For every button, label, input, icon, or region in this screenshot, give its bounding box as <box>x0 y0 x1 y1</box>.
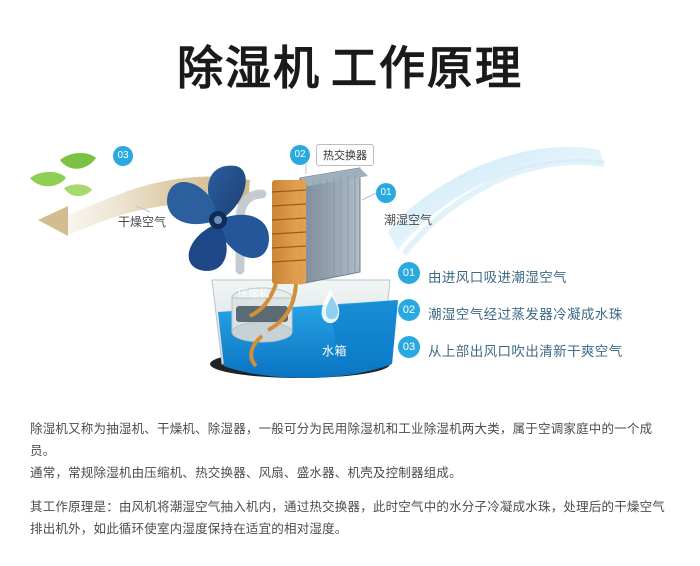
paragraph-1-line-1: 除湿机又称为抽湿机、干燥机、除湿器，一般可分为民用除湿机和工业除湿机两大类，属于… <box>30 422 652 458</box>
paragraph-2-line-2: 排出机外，如此循环使室内湿度保持在适宜的相对湿度。 <box>30 522 348 536</box>
step-badge-01: 01 <box>398 262 420 284</box>
humid-air-label: 潮湿空气 <box>384 211 432 228</box>
compressor-label: 压缩机 <box>238 285 270 300</box>
page-root: 除湿机工作原理 <box>0 0 700 566</box>
dehumidifier-diagram: 03 02 01 热交换器 干燥空气 潮湿空气 压缩机 水箱 <box>0 120 700 410</box>
step-badge-03: 03 <box>398 336 420 358</box>
title-sub: 工作原理 <box>331 42 523 94</box>
badge-03-diagram: 03 <box>113 146 133 166</box>
title-main: 除湿机 <box>177 42 321 94</box>
title-text: 除湿机工作原理 <box>177 32 523 98</box>
evaporator-block <box>300 168 368 284</box>
heat-exchanger-tag: 热交换器 <box>316 144 374 166</box>
badge-01-diagram: 01 <box>376 183 396 203</box>
paragraph-2: 其工作原理是：由风机将潮湿空气抽入机内，通过热交换器，此时空气中的水分子冷凝成水… <box>30 496 675 540</box>
paragraph-2-line-1: 其工作原理是：由风机将潮湿空气抽入机内，通过热交换器，此时空气中的水分子冷凝成水… <box>30 500 665 514</box>
step-text-01: 由进风口吸进潮湿空气 <box>428 266 567 286</box>
dry-air-label: 干燥空气 <box>118 213 166 230</box>
water-tank-side <box>330 300 398 370</box>
water-tank-label: 水箱 <box>322 342 347 359</box>
step-text-03: 从上部出风口吹出清新干爽空气 <box>428 340 623 360</box>
page-title: 除湿机工作原理 <box>0 32 700 98</box>
paragraph-1: 除湿机又称为抽湿机、干燥机、除湿器，一般可分为民用除湿机和工业除湿机两大类，属于… <box>30 418 675 484</box>
step-badge-02: 02 <box>398 299 420 321</box>
step-text-02: 潮湿空气经过蒸发器冷凝成水珠 <box>428 303 623 323</box>
badge-02-diagram: 02 <box>290 145 310 165</box>
paragraph-1-line-2: 通常，常规除湿机由压缩机、热交换器、风扇、盛水器、机壳及控制器组成。 <box>30 466 462 480</box>
dry-airflow-arrow <box>38 206 68 236</box>
description-block: 除湿机又称为抽湿机、干燥机、除湿器，一般可分为民用除湿机和工业除湿机两大类，属于… <box>30 418 675 552</box>
leaf-icon-group <box>30 153 96 196</box>
